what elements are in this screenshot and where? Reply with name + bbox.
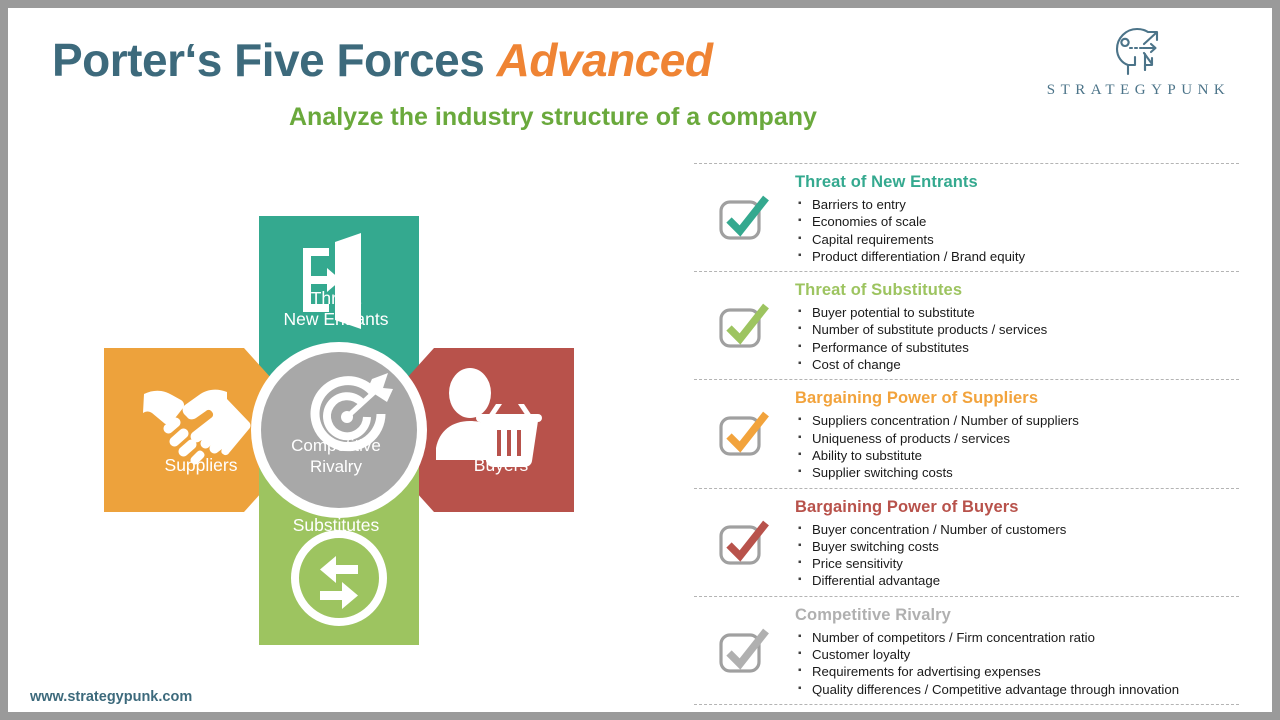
slide-canvas: Porter‘s Five Forces Advanced Analyze th…: [8, 8, 1272, 712]
brand-logo: STRATEGYPUNK: [1036, 24, 1241, 104]
page-subtitle: Analyze the industry structure of a comp…: [289, 103, 817, 132]
force-item: Number of competitors / Firm concentrati…: [795, 629, 1239, 646]
five-forces-diagram: Threat New Entrants Suppliers Buyers Sub…: [96, 208, 591, 653]
force-item: Buyer potential to substitute: [795, 304, 1239, 321]
force-row-body: Threat of New EntrantsBarriers to entryE…: [794, 173, 1239, 265]
checkbox-checked-icon[interactable]: [694, 173, 794, 265]
force-item: Cost of change: [795, 356, 1239, 373]
force-item: Customer loyalty: [795, 646, 1239, 663]
force-item: Economies of scale: [795, 213, 1239, 230]
node-shape-competitive-rivalry: [261, 352, 417, 508]
force-title: Competitive Rivalry: [795, 606, 1239, 625]
force-item-list: Buyer concentration / Number of customer…: [795, 521, 1239, 590]
force-item-list: Barriers to entryEconomies of scaleCapit…: [795, 196, 1239, 265]
force-item: Price sensitivity: [795, 555, 1239, 572]
force-row: Bargaining Power of SuppliersSuppliers c…: [694, 379, 1239, 487]
force-title: Bargaining Power of Suppliers: [795, 389, 1239, 408]
force-item: Product differentiation / Brand equity: [795, 248, 1239, 265]
force-title: Bargaining Power of Buyers: [795, 498, 1239, 517]
force-item: Ability to substitute: [795, 447, 1239, 464]
force-item: Requirements for advertising expenses: [795, 663, 1239, 680]
force-row: Threat of New EntrantsBarriers to entryE…: [694, 163, 1239, 271]
logo-wordmark: STRATEGYPUNK: [1036, 82, 1241, 99]
force-row-body: Threat of SubstitutesBuyer potential to …: [794, 281, 1239, 373]
force-item: Number of substitute products / services: [795, 321, 1239, 338]
force-item: Uniqueness of products / services: [795, 430, 1239, 447]
force-item: Performance of substitutes: [795, 339, 1239, 356]
force-item: Buyer switching costs: [795, 538, 1239, 555]
force-item: Capital requirements: [795, 231, 1239, 248]
force-item: Buyer concentration / Number of customer…: [795, 521, 1239, 538]
force-item-list: Number of competitors / Firm concentrati…: [795, 629, 1239, 698]
page-title-accent: Advanced: [497, 34, 713, 86]
force-title: Threat of New Entrants: [795, 173, 1239, 192]
force-row: Bargaining Power of BuyersBuyer concentr…: [694, 488, 1239, 596]
force-row: Threat of SubstitutesBuyer potential to …: [694, 271, 1239, 379]
force-item-list: Suppliers concentration / Number of supp…: [795, 412, 1239, 481]
checkbox-checked-icon[interactable]: [694, 606, 794, 698]
checkbox-checked-icon[interactable]: [694, 389, 794, 481]
force-item: Suppliers concentration / Number of supp…: [795, 412, 1239, 429]
checkbox-checked-icon[interactable]: [694, 498, 794, 590]
force-title: Threat of Substitutes: [795, 281, 1239, 300]
force-item: Barriers to entry: [795, 196, 1239, 213]
page-title: Porter‘s Five Forces Advanced: [52, 33, 712, 87]
force-item: Differential advantage: [795, 572, 1239, 589]
footer-website: www.strategypunk.com: [30, 689, 192, 705]
force-row-body: Bargaining Power of BuyersBuyer concentr…: [794, 498, 1239, 590]
force-row: Competitive RivalryNumber of competitors…: [694, 596, 1239, 705]
page-title-main: Porter‘s Five Forces: [52, 34, 497, 86]
checkbox-checked-icon[interactable]: [694, 281, 794, 373]
force-item: Quality differences / Competitive advant…: [795, 681, 1239, 698]
force-row-body: Bargaining Power of SuppliersSuppliers c…: [794, 389, 1239, 481]
force-row-body: Competitive RivalryNumber of competitors…: [794, 606, 1239, 698]
force-item: Supplier switching costs: [795, 464, 1239, 481]
head-with-arrows-icon: [1108, 24, 1170, 76]
forces-detail-panel: Threat of New EntrantsBarriers to entryE…: [694, 163, 1239, 705]
force-item-list: Buyer potential to substituteNumber of s…: [795, 304, 1239, 373]
